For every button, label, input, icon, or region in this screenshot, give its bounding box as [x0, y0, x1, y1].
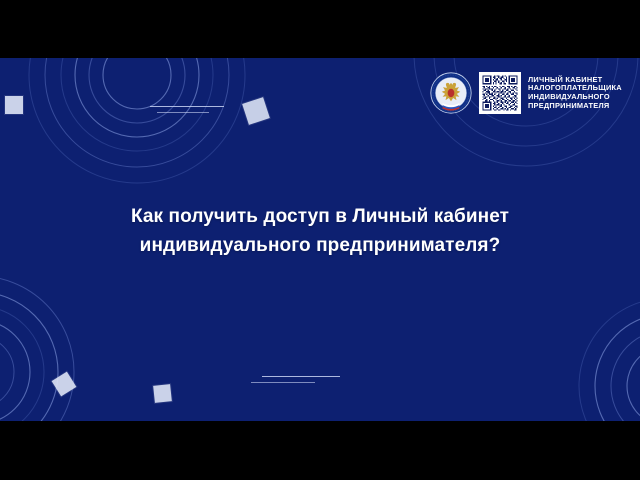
- decorative-arcs-bottom-left: [0, 280, 148, 421]
- decorative-line: [262, 376, 340, 377]
- title-line-2: индивидуального предпринимателя?: [0, 232, 640, 261]
- header-logo-lockup: ЛИЧНЫЙ КАБИНЕТ НАЛОГОПЛАТЕЛЬЩИКА ИНДИВИД…: [430, 72, 622, 114]
- page-title: Как получить доступ в Личный кабинет инд…: [0, 203, 640, 261]
- decorative-square: [5, 96, 23, 114]
- qr-code-icon: [479, 72, 521, 114]
- decorative-square: [153, 384, 172, 403]
- decorative-arcs-bottom-right: [552, 294, 640, 421]
- letterbox-bar-top: [0, 0, 640, 58]
- video-frame: ЛИЧНЫЙ КАБИНЕТ НАЛОГОПЛАТЕЛЬЩИКА ИНДИВИД…: [0, 0, 640, 480]
- decorative-line: [251, 382, 315, 383]
- title-line-1: Как получить доступ в Личный кабинет: [0, 203, 640, 232]
- decorative-square: [52, 372, 77, 397]
- decorative-line: [150, 106, 224, 107]
- video-stage: ЛИЧНЫЙ КАБИНЕТ НАЛОГОПЛАТЕЛЬЩИКА ИНДИВИД…: [0, 58, 640, 421]
- header-wordmark: ЛИЧНЫЙ КАБИНЕТ НАЛОГОПЛАТЕЛЬЩИКА ИНДИВИД…: [528, 76, 622, 111]
- decorative-arcs-top-left: [42, 58, 302, 210]
- letterbox-bar-bottom: [0, 421, 640, 480]
- decorative-line: [157, 112, 209, 113]
- decorative-square: [242, 97, 270, 125]
- fns-russia-emblem-icon: [430, 72, 472, 114]
- header-line-4: ПРЕДПРИНИМАТЕЛЯ: [528, 102, 622, 111]
